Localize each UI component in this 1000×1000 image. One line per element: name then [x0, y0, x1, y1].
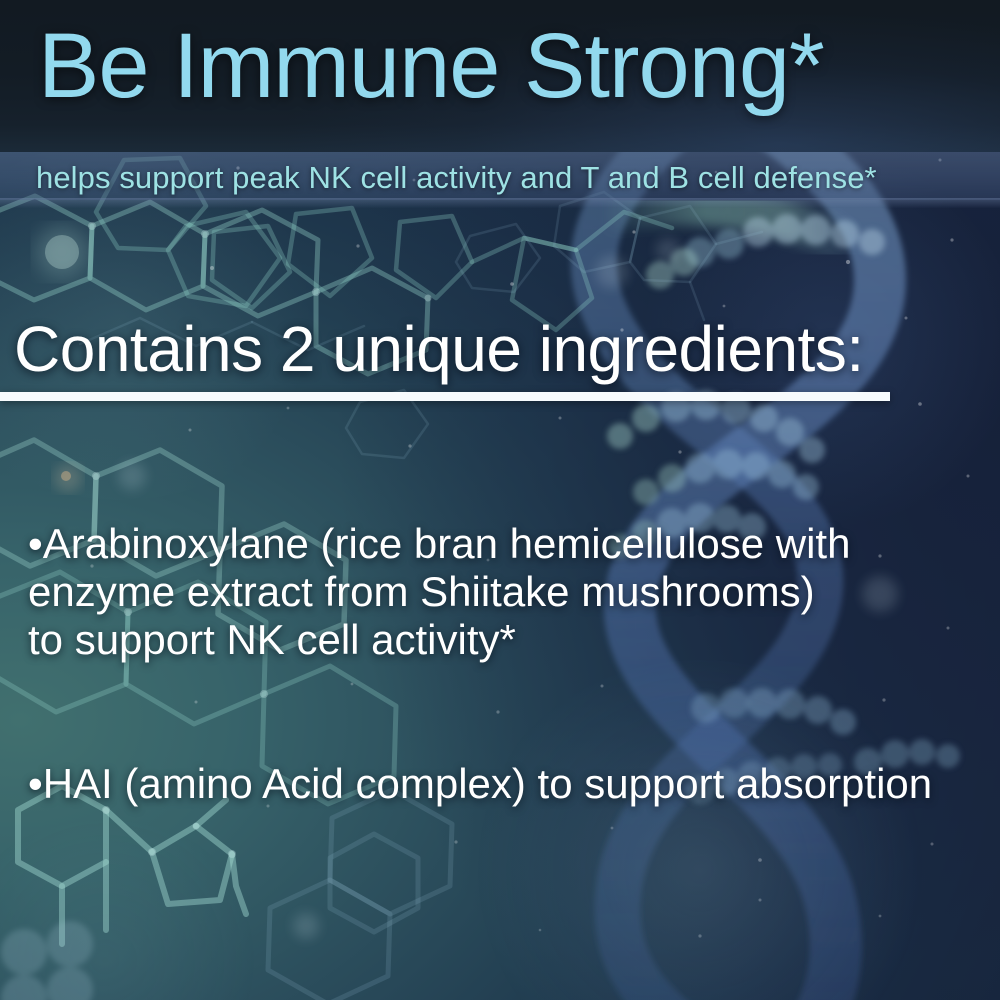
section-heading: Contains 2 unique ingredients:: [14, 312, 864, 386]
page-subtitle: helps support peak NK cell activity and …: [36, 160, 877, 196]
ingredient-1-line-3: to support NK cell activity*: [28, 616, 972, 664]
page-title: Be Immune Strong*: [38, 14, 824, 119]
ingredient-list: •Arabinoxylane (rice bran hemicellulose …: [28, 520, 972, 664]
ingredient-2-line-1: •HAI (amino Acid complex) to support abs…: [28, 760, 932, 808]
subtitle-band-edge: [0, 198, 1000, 208]
ingredient-1-line-2: enzyme extract from Shiitake mushrooms): [28, 568, 972, 616]
ingredient-1-line-1: •Arabinoxylane (rice bran hemicellulose …: [28, 520, 972, 568]
promo-graphic: Be Immune Strong* helps support peak NK …: [0, 0, 1000, 1000]
heading-underline-rule: [0, 392, 890, 401]
